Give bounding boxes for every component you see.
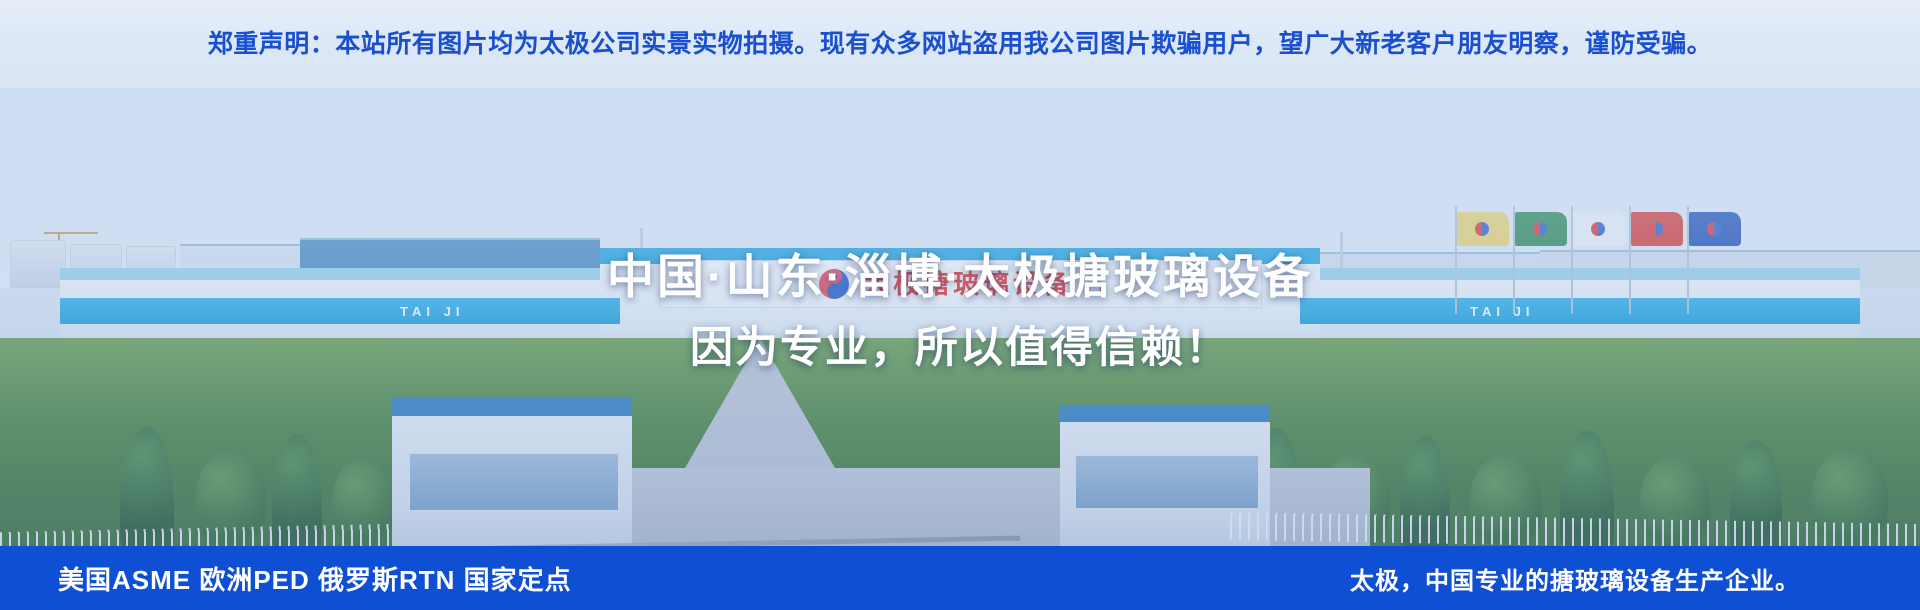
company-flag-blue: [1689, 212, 1741, 246]
gate-house-window: [408, 452, 620, 512]
company-slogan: 太极，中国专业的搪玻璃设备生产企业。: [1350, 546, 1800, 610]
company-flag-red: [1631, 212, 1683, 246]
company-flag-white: [1573, 212, 1625, 246]
flag-row: [1455, 206, 1745, 316]
factory-photo: TAI JI TAI JI 太极搪玻璃设备 ⌂: [0, 88, 1920, 546]
gate-house-left: [392, 398, 632, 546]
slogan-bar: 美国ASME 欧洲PED 俄罗斯RTN 国家定点 太极，中国专业的搪玻璃设备生产…: [0, 546, 1920, 610]
roof-sign-text: 太极搪玻璃设备: [863, 271, 1073, 297]
roof-sign-mark-icon: ⌂: [1087, 271, 1103, 297]
promo-banner-page: 郑重声明：本站所有图片均为太极公司实景实物拍摄。现有众多网站盗用我公司图片欺骗用…: [0, 0, 1920, 610]
taiji-dots: [819, 269, 849, 299]
notice-banner: 郑重声明：本站所有图片均为太极公司实景实物拍摄。现有众多网站盗用我公司图片欺骗用…: [0, 0, 1920, 88]
certification-slogan: 美国ASME 欧洲PED 俄罗斯RTN 国家定点: [58, 546, 572, 610]
gate-house-window: [1074, 454, 1260, 510]
company-flag-green: [1515, 212, 1567, 246]
roof-company-sign: 太极搪玻璃设备 ⌂: [660, 260, 1262, 308]
taiji-yin-yang-logo: [819, 269, 849, 299]
company-flag-yellow: [1457, 212, 1509, 246]
building-band-left: TAI JI: [60, 298, 620, 324]
notice-text: 郑重声明：本站所有图片均为太极公司实景实物拍摄。现有众多网站盗用我公司图片欺骗用…: [208, 32, 1713, 57]
